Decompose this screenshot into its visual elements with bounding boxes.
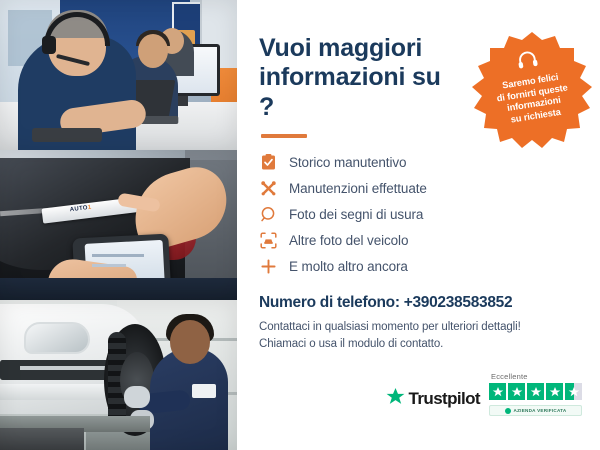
photo-column: AUTO1 — [0, 0, 237, 450]
star-filled-icon — [508, 383, 525, 400]
star-filled-icon — [489, 383, 506, 400]
headline-line-2: informazioni su ? — [259, 63, 441, 120]
feature-label: Altre foto del veicolo — [289, 233, 408, 248]
verified-business-badge: AZIENDA VERIFICATA — [489, 405, 582, 416]
feature-label: Manutenzioni effettuate — [289, 181, 427, 196]
clipboard-check-icon — [259, 153, 278, 172]
phone-number-label[interactable]: Numero di telefono: +390238583852 — [259, 294, 578, 312]
content-panel: Vuoi maggioriinformazioni su ? Storico m… — [237, 0, 600, 450]
title-underline-rule — [261, 134, 307, 138]
trustpilot-rating: Eccellente — [489, 372, 582, 416]
car-scan-frame-icon — [259, 231, 278, 250]
callout-badge: Saremo felici di fornirti queste informa… — [470, 30, 594, 154]
feature-label: Foto dei segni di usura — [289, 207, 423, 222]
contact-subtext: Contattaci in qualsiasi momento per ulte… — [259, 319, 578, 354]
trustpilot-logo: Trustpilot — [386, 387, 480, 416]
trustpilot-star-icon — [386, 387, 405, 411]
verified-label: AZIENDA VERIFICATA — [514, 408, 567, 413]
promo-banner: AUTO1 — [0, 0, 600, 450]
list-item: E molto altro ancora — [259, 254, 578, 280]
list-item: Altre foto del veicolo — [259, 228, 578, 254]
list-item: Manutenzioni effettuate — [259, 176, 578, 202]
contact-subtext-line-1: Contattaci in qualsiasi momento per ulte… — [259, 321, 521, 333]
headline-line-1: Vuoi maggiori — [259, 34, 422, 62]
rating-label: Eccellente — [491, 372, 528, 381]
magnifier-icon — [259, 205, 278, 224]
trustpilot-widget[interactable]: Trustpilot Eccellente — [386, 372, 582, 416]
photo-call-center — [0, 0, 237, 150]
verified-check-icon — [505, 408, 511, 414]
feature-label: Storico manutentivo — [289, 155, 406, 170]
tools-cross-icon — [259, 179, 278, 198]
star-rating — [489, 383, 582, 400]
plus-icon — [259, 257, 278, 276]
trustpilot-wordmark: Trustpilot — [409, 389, 480, 409]
list-item: Foto dei segni di usura — [259, 202, 578, 228]
headset-icon — [515, 49, 539, 75]
badge-text: Saremo felici di fornirti queste informa… — [478, 68, 588, 131]
page-title: Vuoi maggioriinformazioni su ? — [259, 34, 459, 122]
photo-wheel-check — [0, 300, 237, 450]
star-filled-icon — [546, 383, 563, 400]
photo-vehicle-inspection: AUTO1 — [0, 150, 237, 300]
feature-label: E molto altro ancora — [289, 259, 408, 274]
feature-list: Storico manutentivo Manutenzi — [259, 150, 578, 280]
star-filled-icon — [527, 383, 544, 400]
star-half-icon — [565, 383, 582, 400]
contact-subtext-line-2: Chiamaci o usa il modulo di contatto. — [259, 338, 443, 350]
